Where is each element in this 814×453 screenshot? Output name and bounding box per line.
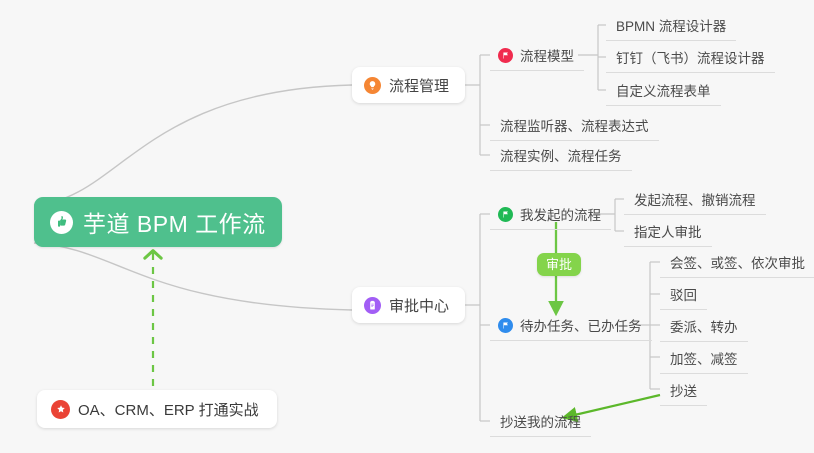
leaf-cc[interactable]: 抄送 [660, 377, 707, 406]
leaf-listener-expression[interactable]: 流程监听器、流程表达式 [490, 112, 659, 141]
leaf-label: 流程模型 [520, 45, 574, 65]
flag-icon [498, 48, 513, 63]
leaf-instance-task[interactable]: 流程实例、流程任务 [490, 142, 632, 171]
branch-node-process-mgmt[interactable]: 流程管理 [352, 67, 465, 103]
leaf-start-cancel-flow[interactable]: 发起流程、撤销流程 [624, 186, 766, 215]
leaf-assignee-approval[interactable]: 指定人审批 [624, 218, 712, 247]
star-icon [51, 400, 70, 419]
leaf-add-remove-sign[interactable]: 加签、减签 [660, 345, 748, 374]
leaf-my-started-flow[interactable]: 我发起的流程 [490, 201, 611, 230]
thumbs-up-icon [50, 211, 73, 234]
branch-label-process-mgmt: 流程管理 [389, 75, 449, 96]
leaf-delegate-transfer[interactable]: 委派、转办 [660, 313, 748, 342]
leaf-custom-form[interactable]: 自定义流程表单 [606, 77, 721, 106]
branch-label-approval-center: 审批中心 [389, 295, 449, 316]
lightbulb-icon [364, 77, 381, 94]
root-label: 芋道 BPM 工作流 [83, 205, 266, 239]
leaf-label: 待办任务、已办任务 [520, 315, 642, 335]
connector-root-to-approval-center [34, 243, 352, 310]
integration-node[interactable]: OA、CRM、ERP 打通实战 [37, 390, 277, 428]
clipboard-icon [364, 297, 381, 314]
leaf-countersign[interactable]: 会签、或签、依次审批 [660, 249, 814, 278]
leaf-dingtalk-designer[interactable]: 钉钉（飞书）流程设计器 [606, 44, 775, 73]
leaf-cc-to-me-flow[interactable]: 抄送我的流程 [490, 408, 591, 437]
flag-icon [498, 207, 513, 222]
root-node[interactable]: 芋道 BPM 工作流 [34, 197, 282, 247]
leaf-bpmn-designer[interactable]: BPMN 流程设计器 [606, 12, 736, 41]
leaf-process-model[interactable]: 流程模型 [490, 42, 584, 71]
leaf-reject[interactable]: 驳回 [660, 281, 707, 310]
flag-icon [498, 318, 513, 333]
connector-root-to-process-mgmt [34, 85, 352, 205]
arrow-label-approve: 审批 [537, 253, 581, 276]
branch-node-approval-center[interactable]: 审批中心 [352, 287, 465, 323]
leaf-todo-done-tasks[interactable]: 待办任务、已办任务 [490, 312, 652, 341]
integration-label: OA、CRM、ERP 打通实战 [78, 399, 259, 420]
mindmap-canvas: 芋道 BPM 工作流 流程管理 审批中心 OA、CRM、ERP 打通实战 [0, 0, 814, 453]
leaf-label: 我发起的流程 [520, 204, 601, 224]
